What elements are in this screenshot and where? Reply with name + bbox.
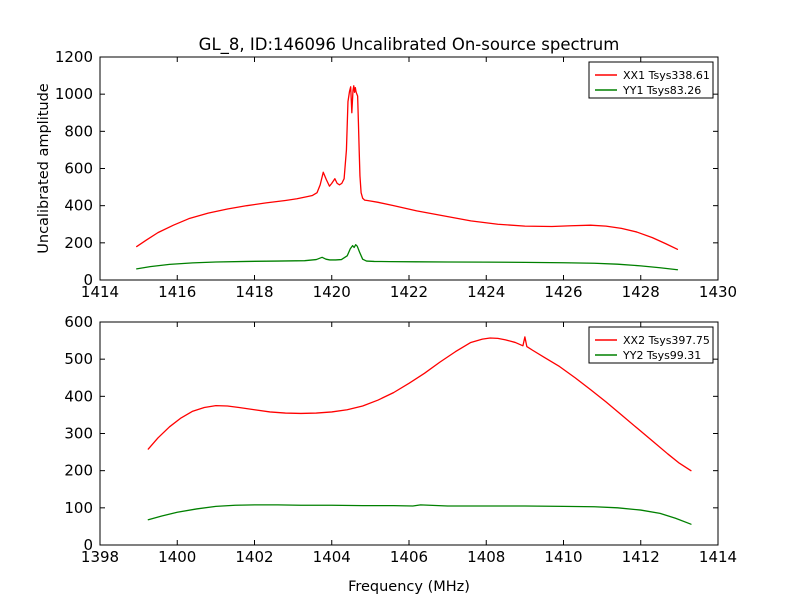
y-tick-label: 300 bbox=[64, 425, 93, 443]
plot-canvas: GL_8, ID:146096 Uncalibrated On-source s… bbox=[0, 0, 800, 600]
y-tick-label: 800 bbox=[64, 122, 93, 140]
trace-xx1 bbox=[137, 86, 678, 250]
y-tick-label: 600 bbox=[64, 160, 93, 178]
y-tick-label: 0 bbox=[83, 271, 93, 289]
y-tick-label: 200 bbox=[64, 234, 93, 252]
x-tick-label: 1424 bbox=[467, 283, 505, 301]
y-tick-label: 0 bbox=[83, 536, 93, 554]
y-tick-label: 400 bbox=[64, 387, 93, 405]
x-tick-label: 1422 bbox=[390, 283, 428, 301]
y-axis-label: Uncalibrated amplitude bbox=[36, 83, 52, 254]
trace-yy1 bbox=[137, 245, 678, 270]
trace-yy2 bbox=[148, 505, 691, 524]
legend-label: YY2 Tsys99.31 bbox=[622, 349, 701, 362]
y-tick-label: 600 bbox=[64, 313, 93, 331]
spectrum-figure: GL_8, ID:146096 Uncalibrated On-source s… bbox=[0, 0, 800, 600]
panel-top: 1414141614181420142214241426142814300200… bbox=[36, 48, 737, 301]
x-tick-label: 1416 bbox=[158, 283, 196, 301]
x-tick-label: 1410 bbox=[544, 548, 582, 566]
y-tick-label: 1000 bbox=[55, 85, 93, 103]
legend-label: XX1 Tsys338.61 bbox=[623, 69, 710, 82]
x-tick-label: 1412 bbox=[622, 548, 660, 566]
panel-bottom: 1398140014021404140614081410141214140100… bbox=[64, 313, 737, 595]
legend-label: YY1 Tsys83.26 bbox=[622, 84, 701, 97]
x-tick-label: 1408 bbox=[467, 548, 505, 566]
x-tick-label: 1420 bbox=[313, 283, 351, 301]
y-tick-label: 100 bbox=[64, 499, 93, 517]
legend-label: XX2 Tsys397.75 bbox=[623, 334, 710, 347]
x-tick-label: 1430 bbox=[699, 283, 737, 301]
figure-title: GL_8, ID:146096 Uncalibrated On-source s… bbox=[199, 35, 620, 55]
y-tick-label: 400 bbox=[64, 197, 93, 215]
x-tick-label: 1402 bbox=[235, 548, 273, 566]
legend-bottom: XX2 Tsys397.75YY2 Tsys99.31 bbox=[589, 327, 713, 363]
x-tick-label: 1428 bbox=[622, 283, 660, 301]
x-tick-label: 1414 bbox=[699, 548, 737, 566]
y-tick-label: 1200 bbox=[55, 48, 93, 66]
y-tick-label: 200 bbox=[64, 462, 93, 480]
legend-top: XX1 Tsys338.61YY1 Tsys83.26 bbox=[589, 62, 713, 98]
x-tick-label: 1418 bbox=[235, 283, 273, 301]
x-tick-label: 1404 bbox=[313, 548, 351, 566]
x-tick-label: 1426 bbox=[544, 283, 582, 301]
x-tick-label: 1400 bbox=[158, 548, 196, 566]
y-tick-label: 500 bbox=[64, 350, 93, 368]
x-tick-label: 1406 bbox=[390, 548, 428, 566]
x-axis-label: Frequency (MHz) bbox=[348, 579, 470, 595]
